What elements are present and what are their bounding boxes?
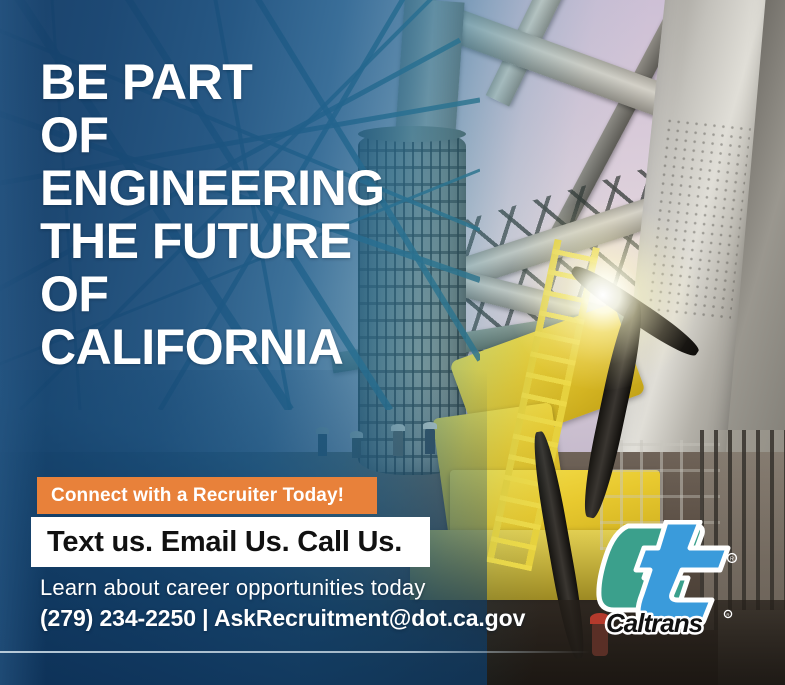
caltrans-recruitment-banner: BE PART OF ENGINEERING THE FUTURE OF CAL…: [0, 0, 785, 685]
bottom-divider-rule: [0, 651, 590, 653]
svg-text:Caltrans: Caltrans: [606, 608, 703, 635]
caltrans-logo[interactable]: R Caltrans R: [592, 520, 742, 635]
registered-mark-letter: R: [730, 557, 734, 563]
contact-methods-bar[interactable]: Text us. Email Us. Call Us.: [31, 517, 430, 567]
contact-details[interactable]: (279) 234-2250 | AskRecruitment@dot.ca.g…: [40, 605, 525, 632]
headline-line-5: OF: [40, 268, 385, 321]
contact-methods-label: Text us. Email Us. Call Us.: [31, 526, 402, 559]
headline: BE PART OF ENGINEERING THE FUTURE OF CAL…: [40, 56, 385, 374]
logo-wordmark: Caltrans R: [606, 608, 732, 635]
contact-block: Learn about career opportunities today (…: [40, 575, 525, 632]
recruiter-cta-bar[interactable]: Connect with a Recruiter Today!: [37, 477, 377, 514]
headline-line-4: THE FUTURE: [40, 215, 385, 268]
caltrans-logo-svg: R Caltrans R: [592, 520, 742, 635]
svg-text:R: R: [726, 612, 729, 617]
headline-line-2: OF: [40, 109, 385, 162]
headline-line-6: CALIFORNIA: [40, 321, 385, 374]
contact-prompt: Learn about career opportunities today: [40, 575, 525, 601]
recruiter-cta-label: Connect with a Recruiter Today!: [37, 485, 344, 507]
headline-line-1: BE PART: [40, 56, 385, 109]
headline-line-3: ENGINEERING: [40, 162, 385, 215]
